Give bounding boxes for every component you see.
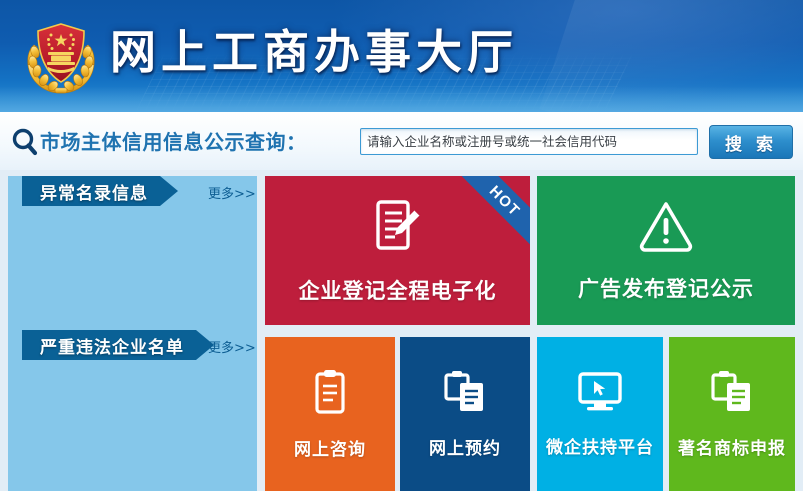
sidebar-banner-violation[interactable]: 严重违法企业名单 (22, 330, 214, 360)
tile-online-appointment[interactable]: 网上预约 (400, 337, 530, 491)
tile-label: 微企扶持平台 (546, 433, 654, 458)
sidebar-banner-abnormal[interactable]: 异常名录信息 (22, 176, 178, 206)
monitor-cursor-icon (575, 370, 625, 419)
hot-badge: HOT (457, 176, 530, 249)
copy-documents-icon (442, 369, 488, 420)
sidebar-block-violation: 严重违法企业名单 更多>> (8, 330, 257, 360)
tile-advertising-registration-notice[interactable]: 广告发布登记公示 (537, 176, 795, 325)
copy-documents-icon (709, 369, 755, 420)
site-title: 网上工商办事大厅 (110, 24, 518, 80)
search-button[interactable]: 搜 索 (709, 125, 793, 159)
search-input[interactable] (360, 128, 698, 155)
tile-famous-trademark-application[interactable]: 著名商标申报 (669, 337, 795, 491)
tile-label: 著名商标申报 (678, 434, 786, 459)
tile-enterprise-registration-electronic[interactable]: HOT 企业登记全程电子化 (265, 176, 530, 325)
tile-micro-enterprise-support-platform[interactable]: 微企扶持平台 (537, 337, 663, 491)
magnifier-icon (10, 127, 40, 157)
hot-badge-label: HOT (486, 182, 524, 220)
sidebar-block-abnormal: 异常名录信息 更多>> (8, 176, 257, 206)
page-root: 网上工商办事大厅 市场主体信用信息公示查询： 搜 索 异常名录信息 更多>> 严… (0, 0, 803, 491)
site-header: 网上工商办事大厅 (0, 0, 803, 112)
tile-label: 企业登记全程电子化 (299, 275, 497, 305)
search-label: 市场主体信用信息公示查询： (40, 129, 307, 155)
clipboard-icon (308, 368, 352, 421)
sidebar-more-link-violation[interactable]: 更多>> (208, 337, 256, 356)
tile-label: 网上预约 (429, 434, 501, 459)
tile-label: 网上咨询 (294, 435, 366, 460)
sidebar-more-link-abnormal[interactable]: 更多>> (208, 183, 256, 202)
warning-triangle-icon (637, 198, 695, 257)
aic-national-emblem-icon (26, 19, 96, 95)
header-bottom-glow (0, 86, 803, 112)
sidebar-panel: 异常名录信息 更多>> 严重违法企业名单 更多>> (8, 176, 257, 491)
document-pen-icon (369, 196, 427, 259)
sidebar-banner-label: 严重违法企业名单 (40, 333, 184, 358)
tile-online-consultation[interactable]: 网上咨询 (265, 337, 395, 491)
tile-label: 广告发布登记公示 (578, 273, 754, 303)
sidebar-banner-label: 异常名录信息 (40, 179, 148, 204)
